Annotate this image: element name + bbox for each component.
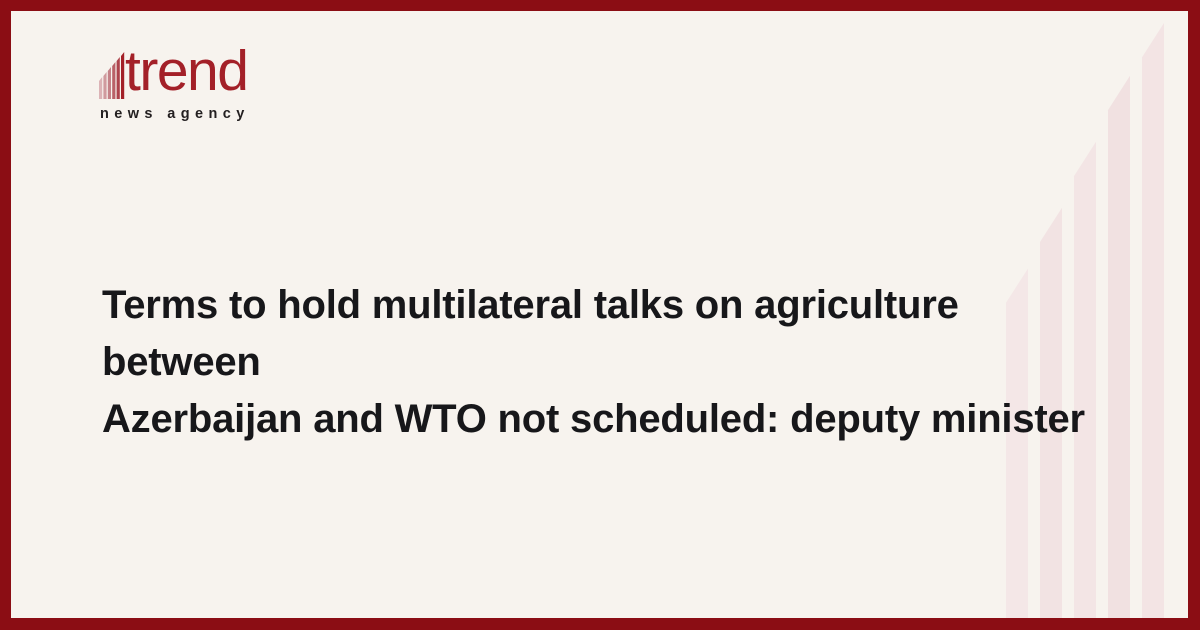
brand-logo[interactable]: trend news agency xyxy=(98,45,328,122)
brand-wordmark: trend xyxy=(125,45,247,97)
card-canvas: trend news agency Terms to hold multilat… xyxy=(11,11,1188,618)
article-share-card: trend news agency Terms to hold multilat… xyxy=(0,0,1200,630)
headline: Terms to hold multilateral talks on agri… xyxy=(102,277,1102,448)
ascending-bars-icon xyxy=(98,51,126,99)
headline-line-1: Terms to hold multilateral talks on agri… xyxy=(102,277,1102,391)
headline-line-2: Azerbaijan and WTO not scheduled: deputy… xyxy=(102,391,1102,448)
logo-mark: trend xyxy=(98,45,328,103)
brand-tagline: news agency xyxy=(100,106,328,122)
